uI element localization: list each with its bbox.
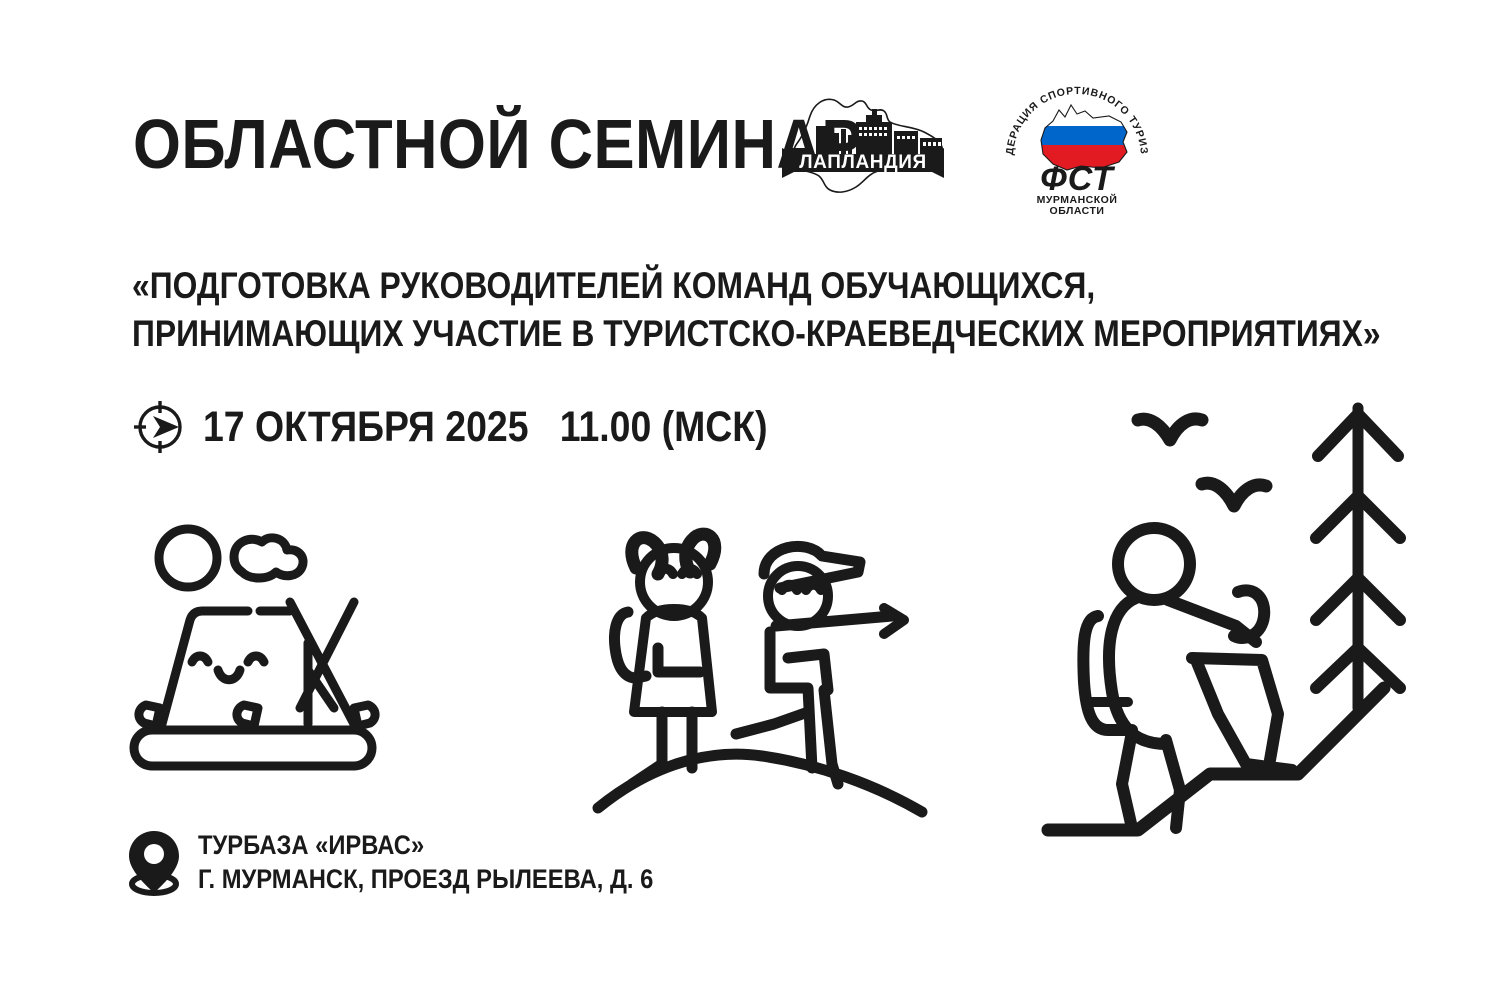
fst-monogram: ФСТ — [1040, 160, 1116, 198]
subtitle-line-2: ПРИНИМАЮЩИХ УЧАСТИЕ В ТУРИСТСКО-КРАЕВЕДЧ… — [132, 310, 1381, 358]
lapland-logo: ЛАПЛАНДИЯ — [772, 86, 954, 206]
hiker-illustration — [1040, 392, 1402, 842]
compass-icon — [131, 398, 189, 456]
datetime-text: 17 ОКТЯБРЯ 2025 11.00 (МСК) — [203, 404, 768, 450]
map-pin-icon — [126, 829, 182, 895]
fst-region-line-2: ОБЛАСТИ — [1050, 205, 1105, 217]
location-venue: ТУРБАЗА «ИРВАС» — [198, 828, 653, 862]
subtitle-line-1: «ПОДГОТОВКА РУКОВОДИТЕЛЕЙ КОМАНД ОБУЧАЮЩ… — [132, 262, 1381, 310]
page-title: ОБЛАСТНОЙ СЕМИНАР — [133, 108, 863, 180]
location-address: Г. МУРМАНСК, ПРОЕЗД РЫЛЕЕВА, Д. 6 — [198, 862, 653, 896]
sun-icon — [159, 529, 217, 587]
pine-tree — [1316, 408, 1400, 708]
location-text: ТУРБАЗА «ИРВАС» Г. МУРМАНСК, ПРОЕЗД РЫЛЕ… — [198, 828, 653, 896]
bird-icon — [1138, 419, 1202, 440]
cloud-icon — [234, 538, 303, 578]
fst-logo: ФЕДЕРАЦИЯ СПОРТИВНОГО ТУРИЗМА ФСТ МУРМАН… — [997, 80, 1157, 216]
seminar-subtitle: «ПОДГОТОВКА РУКОВОДИТЕЛЕЙ КОМАНД ОБУЧАЮЩ… — [132, 262, 1381, 358]
lapland-banner-text: ЛАПЛАНДИЯ — [799, 152, 926, 173]
kids-hikers-illustration — [592, 512, 932, 822]
location-row: ТУРБАЗА «ИРВАС» Г. МУРМАНСК, ПРОЕЗД РЫЛЕ… — [126, 828, 715, 896]
tent-illustration — [122, 512, 407, 790]
datetime-row: 17 ОКТЯБРЯ 2025 11.00 (МСК) — [131, 398, 852, 456]
poster-canvas: ОБЛАСТНОЙ СЕМИНАР — [0, 0, 1500, 1000]
bird-icon — [1202, 483, 1266, 506]
